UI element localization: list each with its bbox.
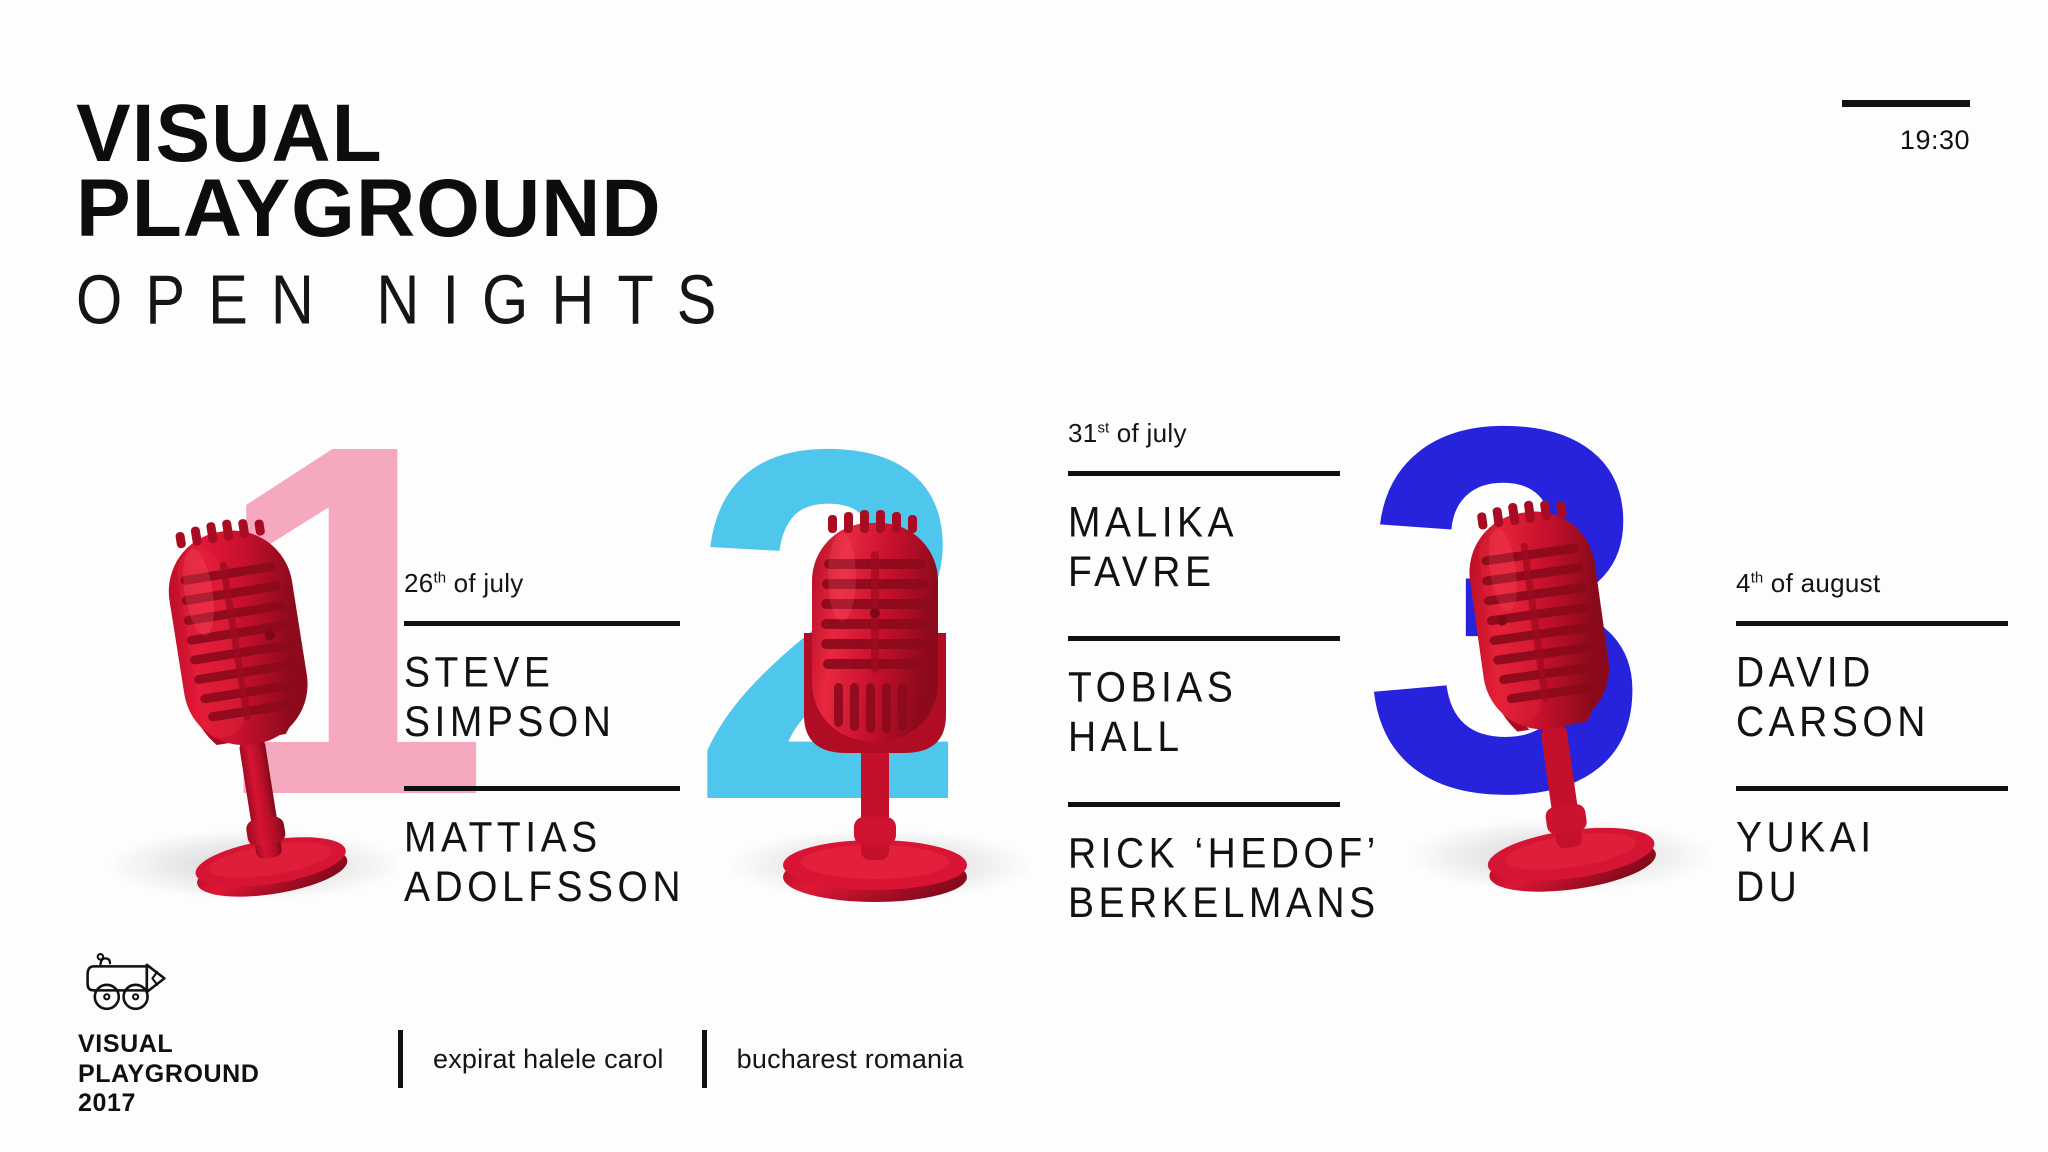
- artist-name: MATTIAS ADOLFSSON: [404, 813, 680, 913]
- footer-venue-info: expirat halele carol bucharest romania: [398, 1030, 1002, 1088]
- date-suffix: th: [1751, 569, 1764, 586]
- date-number: 4: [1736, 568, 1751, 598]
- date-number: 31: [1068, 418, 1098, 448]
- artist-last-name: SIMPSON: [404, 698, 680, 748]
- artist-name: DAVID CARSON: [1736, 648, 2008, 748]
- venue-name: expirat halele carol: [403, 1044, 702, 1075]
- artist-last-name: HALL: [1068, 713, 1340, 763]
- date-month: of august: [1763, 568, 1880, 598]
- night-1-lineup: 26th of july STEVE SIMPSON MATTIAS ADOLF…: [404, 568, 680, 904]
- artist-last-name: CARSON: [1736, 698, 2008, 748]
- artist-first-name: MALIKA: [1068, 498, 1340, 548]
- horizontal-rule-icon: [1842, 100, 1970, 107]
- artist-first-name: DAVID: [1736, 648, 2008, 698]
- night-2-act-1[interactable]: MALIKA FAVRE: [1068, 471, 1340, 614]
- city-name: bucharest romania: [707, 1044, 1002, 1075]
- brand-line-1: VISUAL: [78, 1030, 308, 1060]
- night-2-visual: 2: [700, 435, 1070, 925]
- artist-name: RICK ‘HEDOF’ BERKELMANS: [1068, 829, 1340, 929]
- artist-first-name: STEVE: [404, 648, 680, 698]
- night-3-act-1[interactable]: DAVID CARSON: [1736, 621, 2008, 764]
- night-2-lineup: 31st of july MALIKA FAVRE TOBIAS HALL RI…: [1068, 418, 1340, 919]
- date-month: of july: [1109, 418, 1187, 448]
- night-2-date: 31st of july: [1068, 418, 1340, 449]
- divider-rule: [404, 786, 680, 791]
- divider-rule: [1068, 471, 1340, 476]
- divider-rule: [1068, 636, 1340, 641]
- event-time-block: 19:30: [1730, 100, 1970, 156]
- artist-name: TOBIAS HALL: [1068, 663, 1340, 763]
- page-title-line-1: VISUAL: [76, 96, 767, 171]
- artist-first-name: RICK ‘HEDOF’: [1068, 829, 1340, 879]
- brand-wordmark: VISUAL PLAYGROUND 2017: [78, 1030, 308, 1119]
- artist-first-name: TOBIAS: [1068, 663, 1340, 713]
- artist-first-name: MATTIAS: [404, 813, 680, 863]
- artist-last-name: DU: [1736, 863, 2008, 913]
- footer-city-item: bucharest romania: [702, 1030, 1002, 1088]
- night-1-date: 26th of july: [404, 568, 680, 599]
- divider-rule: [1736, 786, 2008, 791]
- night-2-act-2[interactable]: TOBIAS HALL: [1068, 636, 1340, 779]
- artist-name: STEVE SIMPSON: [404, 648, 680, 748]
- artist-first-name: YUKAI: [1736, 813, 2008, 863]
- pencil-car-logo-icon: [78, 952, 174, 1016]
- night-2-act-3[interactable]: RICK ‘HEDOF’ BERKELMANS: [1068, 802, 1340, 919]
- night-1-act-2[interactable]: MATTIAS ADOLFSSON: [404, 786, 680, 903]
- brand-line-3: 2017: [78, 1089, 308, 1119]
- artist-name: YUKAI DU: [1736, 813, 2008, 913]
- event-time: 19:30: [1730, 125, 1970, 156]
- footer-venue-item: expirat halele carol: [398, 1030, 702, 1088]
- brand-line-2: PLAYGROUND: [78, 1060, 308, 1090]
- artist-last-name: ADOLFSSON: [404, 863, 680, 913]
- brand-logo[interactable]: VISUAL PLAYGROUND 2017: [78, 952, 308, 1119]
- page-subtitle: OPEN NIGHTS: [76, 261, 740, 341]
- night-3-date: 4th of august: [1736, 568, 2008, 599]
- date-suffix: st: [1098, 419, 1110, 436]
- night-3-visual: 3: [1370, 420, 1740, 930]
- divider-rule: [1068, 802, 1340, 807]
- artist-last-name: BERKELMANS: [1068, 879, 1340, 929]
- night-3-act-2[interactable]: YUKAI DU: [1736, 786, 2008, 903]
- artist-name: MALIKA FAVRE: [1068, 498, 1340, 598]
- page-title-line-2: PLAYGROUND: [76, 171, 767, 246]
- poster-header: VISUAL PLAYGROUND OPEN NIGHTS: [76, 96, 767, 332]
- night-3-lineup: 4th of august DAVID CARSON YUKAI DU: [1736, 568, 2008, 904]
- night-1-act-1[interactable]: STEVE SIMPSON: [404, 621, 680, 764]
- artist-last-name: FAVRE: [1068, 548, 1340, 598]
- date-number: 26: [404, 568, 434, 598]
- night-1-visual: 1: [120, 430, 420, 930]
- divider-rule: [1736, 621, 2008, 626]
- date-suffix: th: [434, 569, 447, 586]
- date-month: of july: [446, 568, 524, 598]
- microphone-icon: [760, 485, 990, 915]
- divider-rule: [404, 621, 680, 626]
